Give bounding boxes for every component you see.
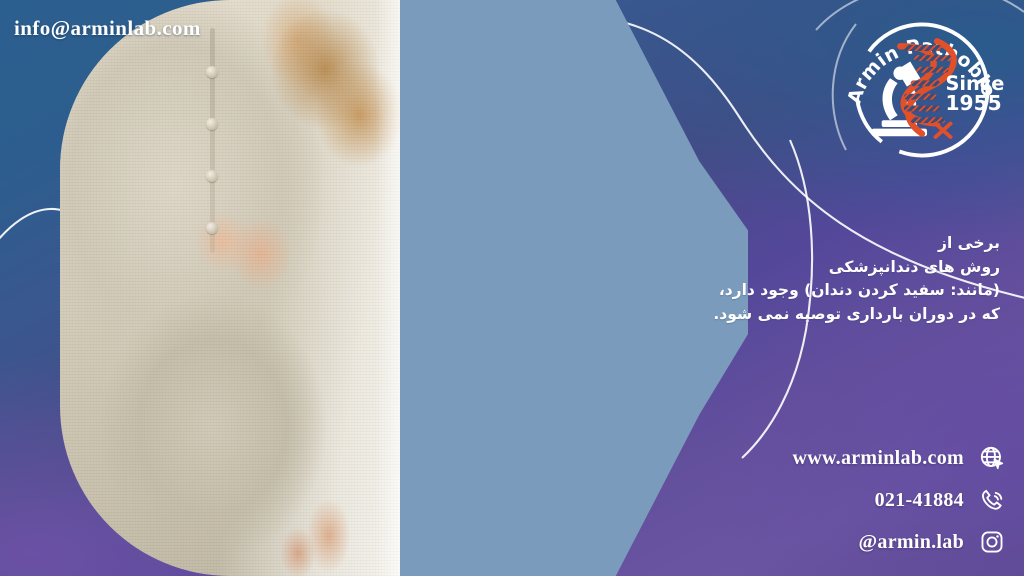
cardigan-button [206,118,218,130]
brand-logo[interactable]: Armin Pathobiology Lab [838,6,1006,174]
photo-light-edge [376,0,400,576]
photo-knit-texture [60,0,400,576]
message-line: روش های دندانپزشکی [678,256,1000,280]
contact-row-phone[interactable]: 021-41884 [875,486,1006,514]
contact-row-website[interactable]: www.arminlab.com [793,444,1006,472]
message-line: که در دوران بارداری توصیه نمی شود. [678,303,1000,327]
instagram-label[interactable]: @armin.lab [859,531,965,554]
promo-banner: info@arminlab.com برخی از روش های دندانپ… [0,0,1024,576]
website-label[interactable]: www.arminlab.com [793,447,964,470]
phone-ring-icon[interactable] [978,486,1006,514]
message-line: برخی از [678,232,1000,256]
cardigan-placket [210,28,215,253]
globe-cursor-icon[interactable] [978,444,1006,472]
contact-block: www.arminlab.com 021-41884 [793,444,1006,556]
message-text: برخی از روش های دندانپزشکی (مانند: سفید … [678,232,1000,326]
instagram-icon[interactable] [978,528,1006,556]
hero-photo [60,0,400,576]
logo-since-year: 1955 [946,91,1002,115]
contact-row-instagram[interactable]: @armin.lab [859,528,1007,556]
message-line: (مانند: سفید کردن دندان) وجود دارد، [678,279,1000,303]
cardigan-button [206,170,218,182]
cardigan-button [206,66,218,78]
phone-label[interactable]: 021-41884 [875,489,964,512]
email-address[interactable]: info@arminlab.com [14,16,201,41]
cardigan-button [206,222,218,234]
